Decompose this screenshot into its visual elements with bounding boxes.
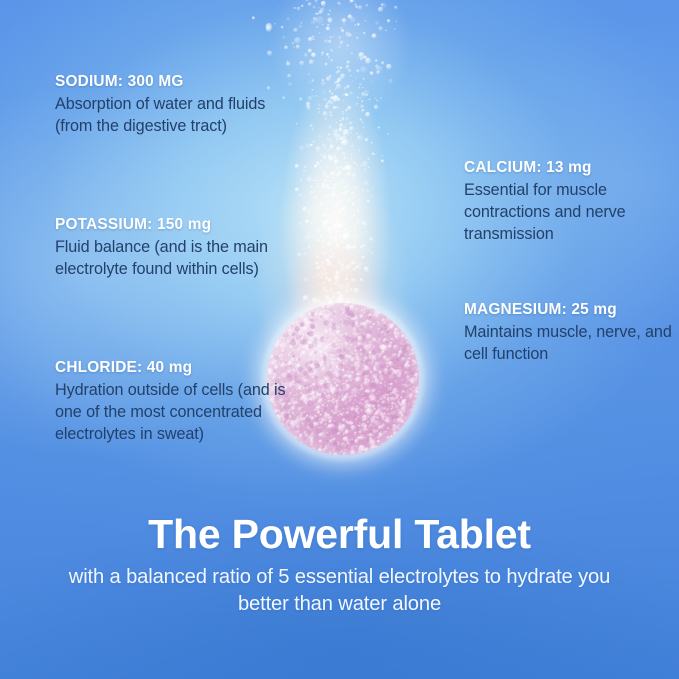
fact-chloride-description: Hydration outside of cells (and is one o… <box>55 379 287 445</box>
fact-calcium: CALCIUM: 13 mg Essential for muscle cont… <box>464 158 679 245</box>
electrolyte-tablet-infographic: SODIUM: 300 MG Absorption of water and f… <box>0 0 679 679</box>
fact-potassium-title: POTASSIUM: 150 mg <box>55 215 287 235</box>
fact-potassium: POTASSIUM: 150 mg Fluid balance (and is … <box>55 215 287 280</box>
fact-magnesium: MAGNESIUM: 25 mg Maintains muscle, nerve… <box>464 300 679 365</box>
footer-subline: with a balanced ratio of 5 essential ele… <box>60 564 620 617</box>
fact-chloride-title: CHLORIDE: 40 mg <box>55 358 287 378</box>
footer-headline: The Powerful Tablet <box>0 512 679 556</box>
fact-chloride: CHLORIDE: 40 mg Hydration outside of cel… <box>55 358 287 445</box>
fact-calcium-description: Essential for muscle contractions and ne… <box>464 179 679 245</box>
fact-sodium-title: SODIUM: 300 MG <box>55 72 287 92</box>
fact-magnesium-description: Maintains muscle, nerve, and cell functi… <box>464 321 679 365</box>
fact-magnesium-title: MAGNESIUM: 25 mg <box>464 300 679 320</box>
fact-sodium: SODIUM: 300 MG Absorption of water and f… <box>55 72 287 137</box>
fact-sodium-description: Absorption of water and fluids (from the… <box>55 93 287 137</box>
fact-potassium-description: Fluid balance (and is the main electroly… <box>55 236 287 280</box>
fact-calcium-title: CALCIUM: 13 mg <box>464 158 679 178</box>
footer-block: The Powerful Tablet with a balanced rati… <box>0 512 679 617</box>
